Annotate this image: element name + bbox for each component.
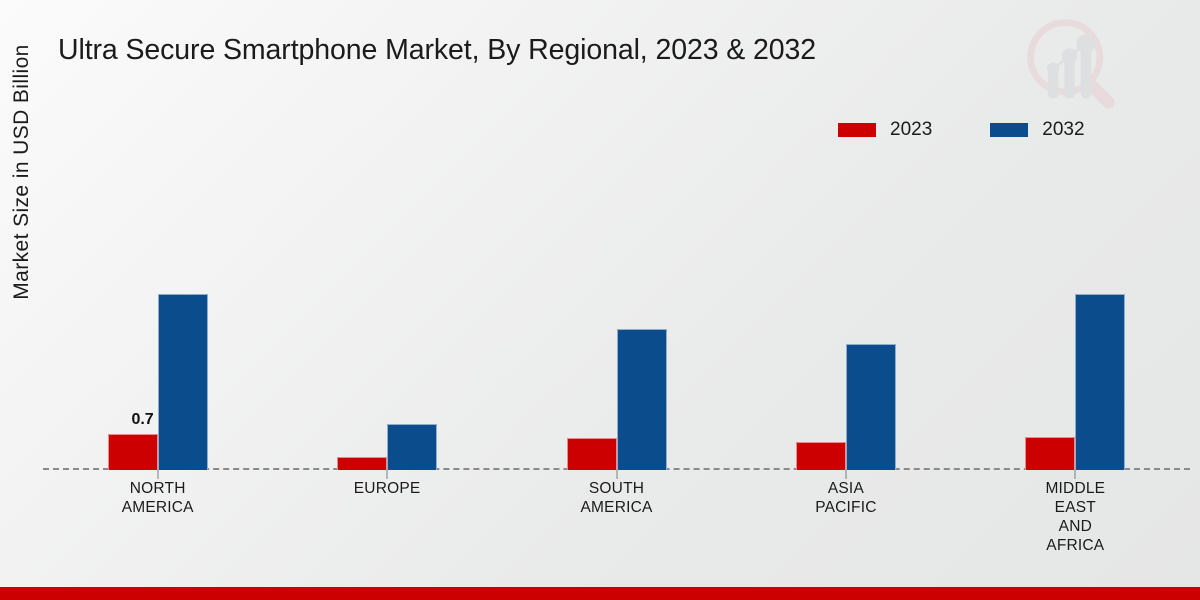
x-axis-label-line: PACIFIC bbox=[731, 498, 960, 517]
x-axis-label: EUROPE bbox=[272, 479, 501, 555]
bar-pair bbox=[337, 424, 437, 470]
chart-container: Ultra Secure Smartphone Market, By Regio… bbox=[0, 0, 1200, 600]
bar-group: 0.7 bbox=[43, 150, 272, 470]
plot-area: 0.7 bbox=[43, 150, 1190, 470]
chart-legend: 2023 2032 bbox=[838, 119, 1085, 141]
legend-label-2032: 2032 bbox=[1042, 119, 1084, 141]
bar-group bbox=[502, 150, 731, 470]
x-axis-labels: NORTHAMERICAEUROPESOUTHAMERICAASIAPACIFI… bbox=[43, 479, 1190, 555]
x-axis-label-line: SOUTH bbox=[502, 479, 731, 498]
x-axis-label: ASIAPACIFIC bbox=[731, 479, 960, 555]
bar-pair bbox=[108, 294, 208, 470]
x-axis-label-line: AND bbox=[961, 517, 1190, 536]
x-axis-label-line: AMERICA bbox=[43, 498, 272, 517]
legend-swatch-2023 bbox=[838, 123, 876, 137]
x-axis-label-line: AMERICA bbox=[502, 498, 731, 517]
legend-swatch-2032 bbox=[990, 123, 1028, 137]
x-axis-tick bbox=[387, 470, 388, 479]
x-axis-label-line: MIDDLE bbox=[961, 479, 1190, 498]
x-axis-label-line: EAST bbox=[961, 498, 1190, 517]
bar-2023[interactable] bbox=[567, 438, 617, 470]
bar-2032[interactable] bbox=[617, 329, 667, 470]
x-axis-tick bbox=[616, 470, 617, 479]
bar-2023[interactable] bbox=[796, 442, 846, 470]
bar-2032[interactable] bbox=[1075, 294, 1125, 470]
x-axis-label: SOUTHAMERICA bbox=[502, 479, 731, 555]
x-axis-label-line: ASIA bbox=[731, 479, 960, 498]
watermark-logo-icon bbox=[1022, 14, 1118, 110]
bar-group bbox=[731, 150, 960, 470]
bar-2032[interactable] bbox=[158, 294, 208, 470]
x-axis-label-line: NORTH bbox=[43, 479, 272, 498]
bar-pair bbox=[796, 344, 896, 470]
chart-title: Ultra Secure Smartphone Market, By Regio… bbox=[58, 34, 816, 67]
x-axis-label: NORTHAMERICA bbox=[43, 479, 272, 555]
bar-2032[interactable] bbox=[387, 424, 437, 470]
bar-pair bbox=[567, 329, 667, 470]
bar-value-label: 0.7 bbox=[131, 411, 153, 429]
legend-item-2023[interactable]: 2023 bbox=[838, 119, 932, 141]
y-axis-title: Market Size in USD Billion bbox=[10, 2, 34, 342]
x-axis-tick bbox=[845, 470, 846, 479]
x-axis-label: MIDDLEEASTANDAFRICA bbox=[961, 479, 1190, 555]
bar-2023[interactable] bbox=[108, 434, 158, 470]
x-axis-tick bbox=[1075, 470, 1076, 479]
legend-item-2032[interactable]: 2032 bbox=[990, 119, 1084, 141]
bar-groups: 0.7 bbox=[43, 150, 1190, 470]
bar-group bbox=[961, 150, 1190, 470]
bar-2023[interactable] bbox=[337, 457, 387, 470]
x-axis-label-line: EUROPE bbox=[272, 479, 501, 498]
bar-2023[interactable] bbox=[1025, 437, 1075, 470]
legend-label-2023: 2023 bbox=[890, 119, 932, 141]
footer-accent-bar bbox=[0, 587, 1200, 600]
bar-2032[interactable] bbox=[846, 344, 896, 470]
x-axis-label-line: AFRICA bbox=[961, 536, 1190, 555]
bar-pair bbox=[1025, 294, 1125, 470]
x-axis-tick bbox=[157, 470, 158, 479]
bar-group bbox=[272, 150, 501, 470]
